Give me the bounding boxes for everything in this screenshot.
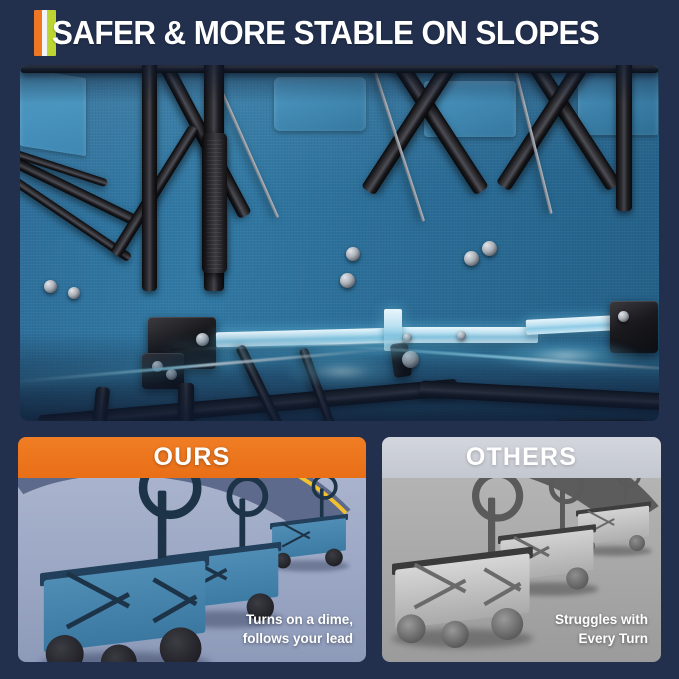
panel-body-others: Struggles with Every Turn: [382, 478, 661, 662]
caption-ours-line-1: Turns on a dime,: [243, 610, 353, 629]
wagon-wheel: [566, 567, 588, 589]
poster-header: SAFER & MORE STABLE ON SLOPES: [0, 0, 679, 66]
frame-rivet: [44, 280, 57, 293]
frame-side-post: [616, 65, 632, 211]
caption-others-line-2: Every Turn: [555, 629, 648, 648]
frame-rivet: [457, 331, 466, 340]
comparison-panel-ours: OURS: [18, 437, 366, 662]
caption-ours-line-2: follows your lead: [243, 629, 353, 648]
frame-ball-joint: [482, 241, 497, 256]
frame-bracket-block: [610, 301, 658, 353]
frame-rivet: [152, 361, 163, 372]
accent-stripe-orange: [34, 10, 42, 56]
product-feature-poster: SAFER & MORE STABLE ON SLOPES: [0, 0, 679, 679]
panel-header-ours: OURS: [18, 437, 366, 478]
panel-header-others: OTHERS: [382, 437, 661, 478]
frame-rivet: [68, 287, 80, 299]
panel-title-ours: OURS: [153, 443, 230, 472]
wagon-wheel: [442, 621, 469, 648]
frame-bracket-block: [142, 353, 184, 389]
wagon-wheel: [491, 608, 523, 640]
panel-title-others: OTHERS: [466, 443, 577, 472]
frame-side-post: [142, 65, 157, 291]
frame-top-rail: [20, 65, 659, 73]
wagon-side-pocket: [274, 77, 366, 131]
frame-rivet: [403, 333, 412, 342]
caption-ours: Turns on a dime, follows your lead: [243, 610, 353, 648]
frame-ball-joint: [346, 247, 360, 261]
frame-rivet: [618, 311, 629, 322]
frame-ball-joint: [402, 351, 419, 368]
frame-ball-joint: [464, 251, 479, 266]
wagon-wheel: [629, 535, 645, 551]
frame-rivet: [166, 369, 177, 380]
frame-ball-joint: [340, 273, 355, 288]
wagon-wheel: [397, 614, 426, 643]
wagon-wheel: [160, 627, 202, 662]
page-title: SAFER & MORE STABLE ON SLOPES: [52, 16, 599, 50]
panel-body-ours: Turns on a dime, follows your lead: [18, 478, 366, 662]
hero-photo: [20, 65, 659, 421]
wagon-side-pocket: [20, 68, 86, 156]
frame-rivet: [196, 333, 209, 346]
frame-center-post-grip: [202, 133, 227, 273]
comparison-panel-others: OTHERS: [382, 437, 661, 662]
caption-others: Struggles with Every Turn: [555, 610, 648, 648]
frame-bracket-block: [554, 419, 646, 421]
wagon-wheel: [325, 549, 343, 567]
caption-others-line-1: Struggles with: [555, 610, 648, 629]
frame-leg: [178, 383, 194, 421]
